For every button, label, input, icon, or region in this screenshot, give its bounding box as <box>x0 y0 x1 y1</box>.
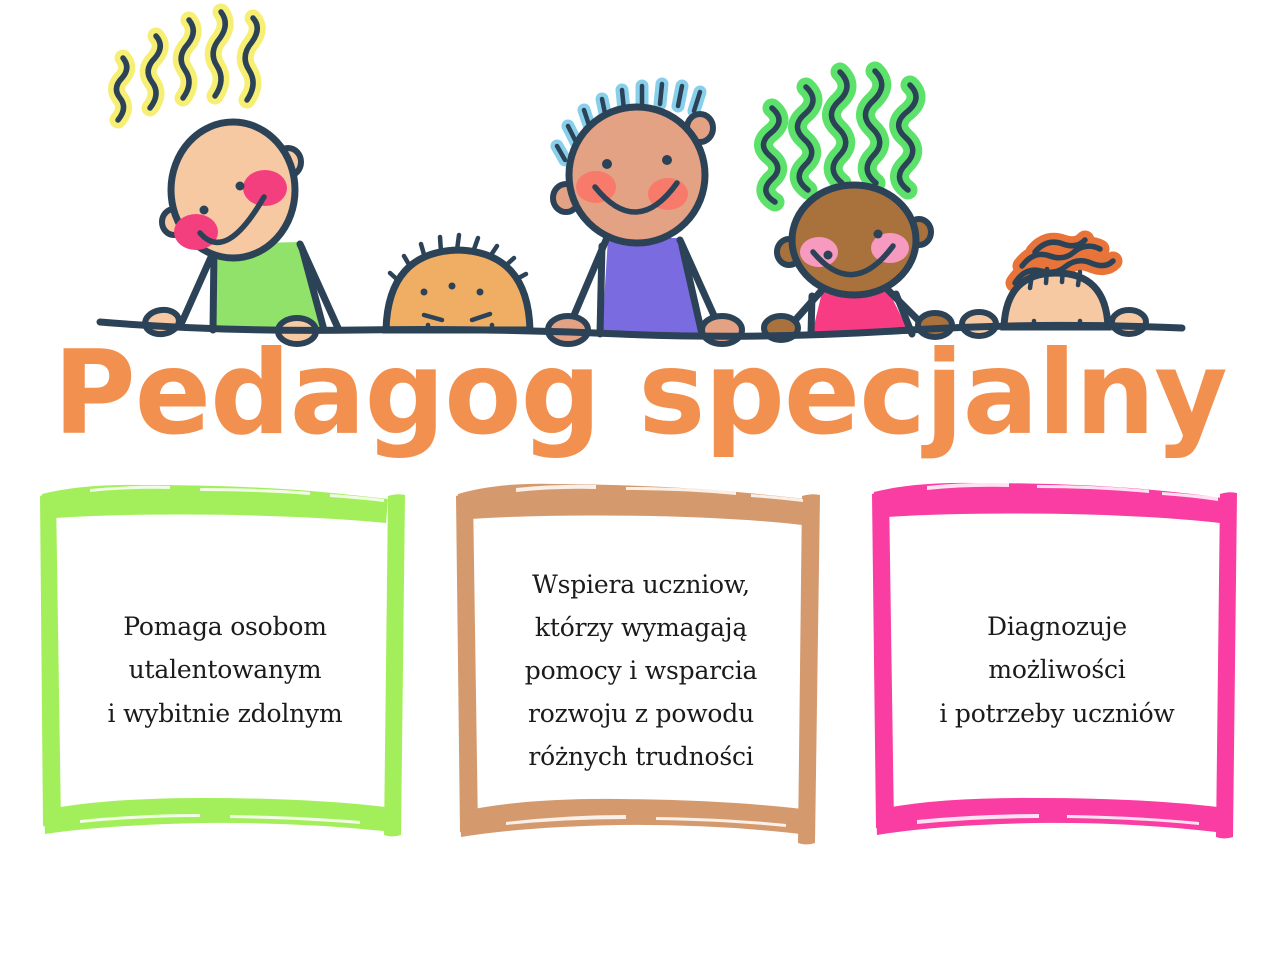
page-title: Pedagog specjalny <box>19 336 1261 452</box>
poster-canvas: .ol { fill:none; stroke:#2B4257; stroke-… <box>0 0 1280 960</box>
card-line: utalentowanym <box>129 648 322 691</box>
card-line: Wspiera uczniow, <box>532 563 750 606</box>
card-line: którzy wymagają <box>535 606 747 649</box>
card-line: rozwoju z powodu <box>528 692 754 735</box>
children-illustration: .ol { fill:none; stroke:#2B4257; stroke-… <box>0 0 1280 350</box>
card-talented-text: Pomaga osobom utalentowanym i wybitnie z… <box>60 470 390 870</box>
child-orange-hair-back <box>962 240 1146 336</box>
card-diagnose-text: Diagnozuje możliwości i potrzeby uczniów <box>892 470 1222 870</box>
child-blue-hair <box>548 84 742 344</box>
card-support-text: Wspiera uczniow, którzy wymagają pomocy … <box>476 470 806 870</box>
card-line: Pomaga osobom <box>123 605 326 648</box>
card-line: Diagnozuje <box>987 605 1127 648</box>
hedgehog-orange-head <box>386 235 530 330</box>
child-green-hair <box>763 71 952 340</box>
card-diagnose: Diagnozuje możliwości i potrzeby uczniów <box>862 470 1252 870</box>
card-support: Wspiera uczniow, którzy wymagają pomocy … <box>446 470 836 870</box>
card-line: różnych trudności <box>528 735 753 778</box>
card-line: możliwości <box>988 648 1125 691</box>
card-line: i wybitnie zdolnym <box>108 692 343 735</box>
card-line: pomocy i wsparcia <box>525 649 757 692</box>
card-line: i potrzeby uczniów <box>939 692 1174 735</box>
cards-row: Pomaga osobom utalentowanym i wybitnie z… <box>0 470 1280 870</box>
child-yellow-hair <box>116 12 338 344</box>
card-talented: Pomaga osobom utalentowanym i wybitnie z… <box>30 470 420 870</box>
